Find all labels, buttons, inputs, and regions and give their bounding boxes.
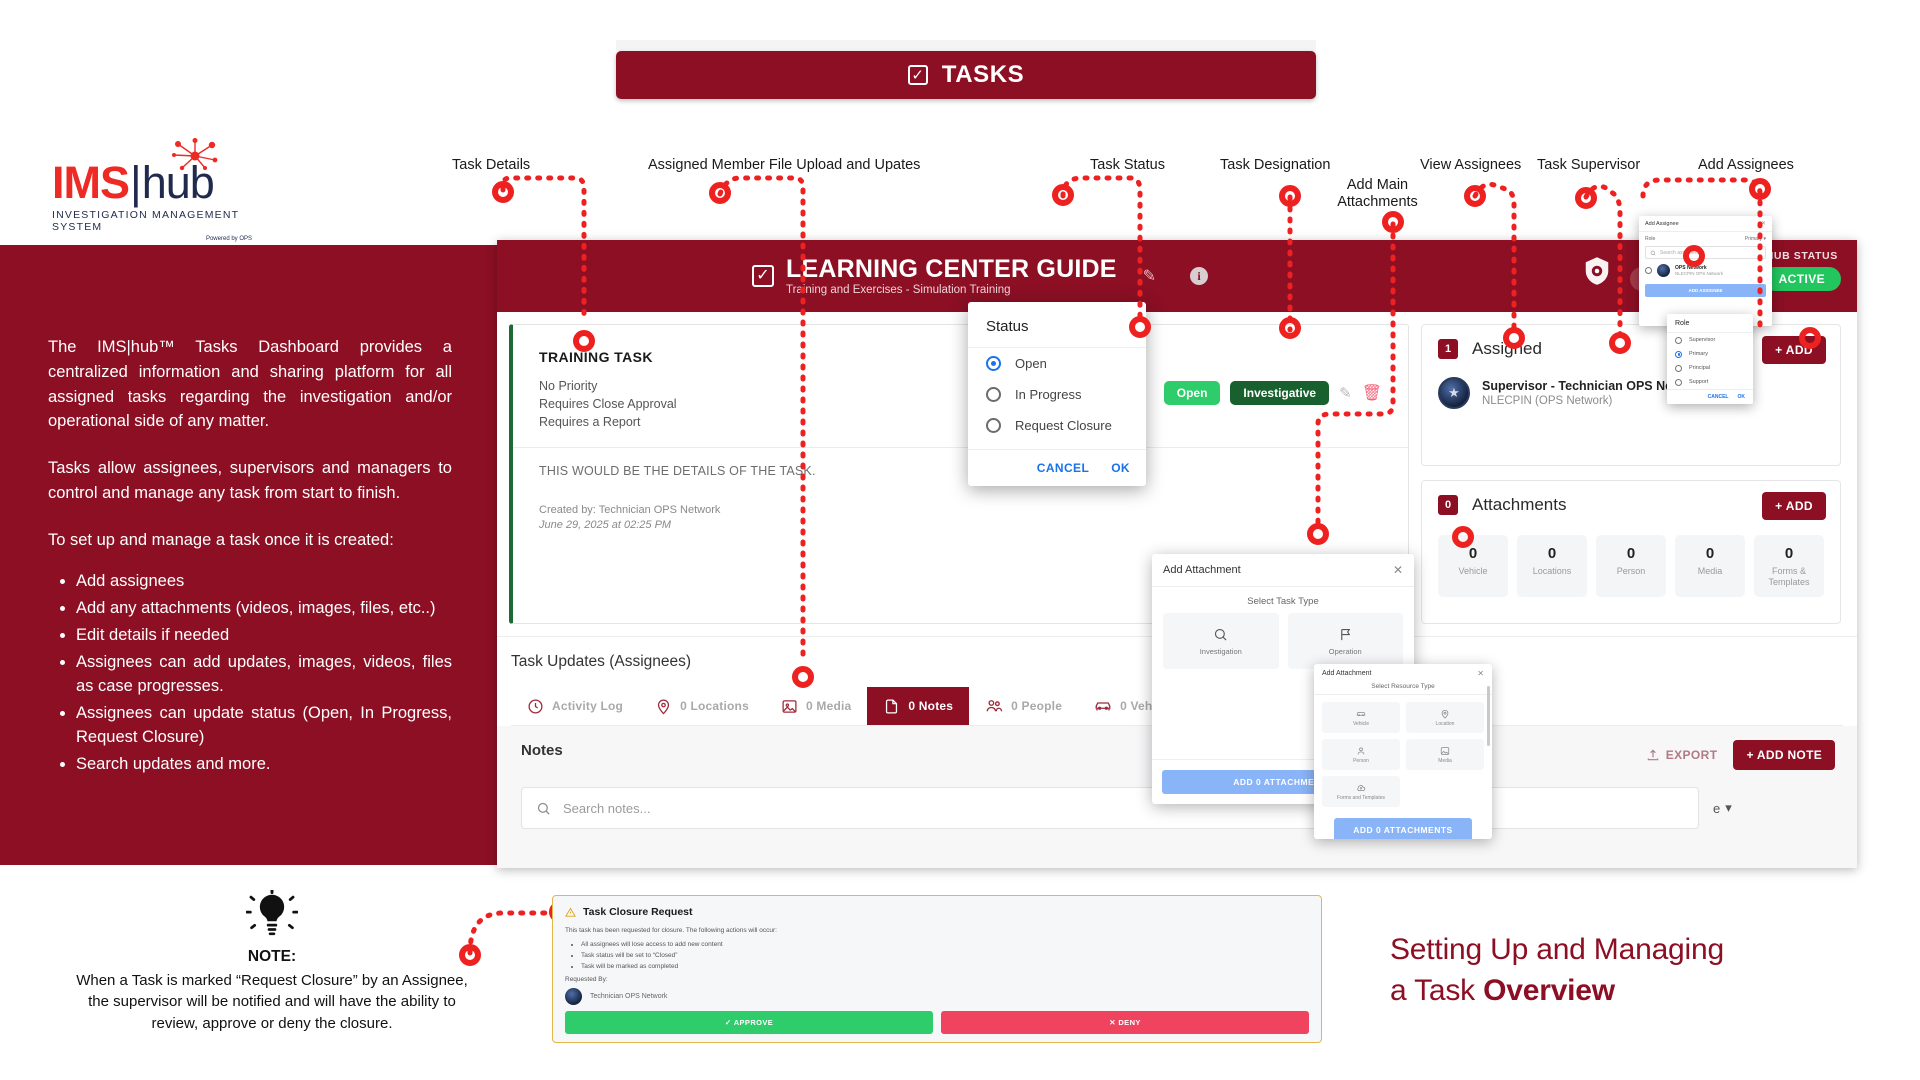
add-attachment-button[interactable]: + ADD xyxy=(1762,492,1826,520)
attachment-tile-person[interactable]: 0 Person xyxy=(1596,535,1666,597)
annotation-view-assignees: View Assignees xyxy=(1420,157,1521,173)
export-label: EXPORT xyxy=(1666,748,1718,762)
tab-label: Activity Log xyxy=(552,699,623,713)
card-label: Media xyxy=(1438,758,1452,764)
cloud-upload-icon xyxy=(1356,783,1366,793)
role-dialog[interactable]: Role Supervisor Primary Principal Suppor… xyxy=(1667,314,1753,404)
cancel-button[interactable]: CANCEL xyxy=(1037,461,1089,475)
option-label: Request Closure xyxy=(1015,418,1112,433)
section-label: Select Task Type xyxy=(1152,587,1414,613)
lightbulb-icon xyxy=(72,890,472,942)
resource-type-person[interactable]: Person xyxy=(1322,739,1400,770)
add-note-button[interactable]: + ADD NOTE xyxy=(1733,740,1835,770)
annotation-add-main-attachments: Add Main Attachments xyxy=(1330,177,1425,212)
search-assignee-input[interactable]: Search assignees... xyxy=(1645,246,1766,259)
tile-count: 0 xyxy=(1677,545,1743,562)
intro-paragraph-2: Tasks allow assignees, supervisors and m… xyxy=(48,456,452,506)
tile-label: Person xyxy=(1598,566,1664,577)
logo-dots-icon xyxy=(172,138,218,174)
divider xyxy=(513,447,1408,448)
dialog-title: Add Assignee xyxy=(1645,221,1679,227)
annotation-add-assignees: Add Assignees xyxy=(1698,157,1794,173)
list-item: Assignees can add updates, images, video… xyxy=(76,651,452,699)
hub-status-label: HUB STATUS xyxy=(1763,250,1841,262)
map-pin-icon xyxy=(655,698,672,715)
list-item: All assignees will lose access to add ne… xyxy=(581,941,1309,948)
car-icon xyxy=(1356,709,1366,719)
radio-icon[interactable] xyxy=(1675,351,1682,358)
sort-select[interactable]: e ▾ xyxy=(1713,800,1833,816)
close-icon[interactable]: ✕ xyxy=(1477,669,1484,678)
attachment-tile-forms[interactable]: 0 Forms & Templates xyxy=(1754,535,1824,597)
annotation-task-status: Task Status xyxy=(1090,157,1165,173)
banner-top-shadow xyxy=(616,40,1316,51)
radio-icon[interactable] xyxy=(1675,337,1682,344)
attachment-tile-media[interactable]: 0 Media xyxy=(1675,535,1745,597)
list-item: Add assignees xyxy=(76,570,452,594)
avatar: ★ xyxy=(1438,377,1470,409)
car-icon xyxy=(1094,697,1112,715)
setup-steps-list: Add assignees Add any attachments (video… xyxy=(76,570,452,776)
cancel-button[interactable]: CANCEL xyxy=(1708,394,1729,400)
section-title-line2-b: Overview xyxy=(1483,974,1615,1007)
assigned-count-badge: 1 xyxy=(1438,339,1458,359)
assigned-panel: 1 Assigned + ADD ★ Supervisor - Technici… xyxy=(1421,324,1841,466)
list-item[interactable]: ★ Supervisor - Technician OPS Network NL… xyxy=(1438,377,1824,409)
option-label: Supervisor xyxy=(1689,337,1715,343)
status-dialog-title: Status xyxy=(968,302,1146,348)
resource-type-media[interactable]: Media xyxy=(1406,739,1484,770)
intro-paragraph-1: The IMS|hub™ Tasks Dashboard provides a … xyxy=(48,335,452,434)
export-button[interactable]: EXPORT xyxy=(1646,748,1718,762)
task-status-pill[interactable]: Open xyxy=(1164,381,1221,405)
info-icon[interactable]: i xyxy=(1190,267,1208,285)
note-title: NOTE: xyxy=(72,948,472,966)
dialog-title: Add Attachment xyxy=(1163,564,1241,576)
logo-tagline: INVESTIGATION MANAGEMENT SYSTEM xyxy=(52,209,252,233)
search-notes-input[interactable]: Search notes... xyxy=(521,787,1699,829)
search-placeholder: Search assignees... xyxy=(1660,250,1704,256)
assigned-title: Assigned xyxy=(1472,339,1542,359)
attachments-panel: 0 Attachments + ADD 0 Vehicle 0 Location… xyxy=(1421,480,1841,624)
tile-count: 0 xyxy=(1440,545,1506,562)
people-icon xyxy=(985,697,1003,715)
tile-label: Vehicle xyxy=(1440,566,1506,577)
logo-ims-text: IMS xyxy=(52,160,129,205)
role-option-supervisor[interactable]: Supervisor xyxy=(1667,333,1753,347)
role-option-primary[interactable]: Primary xyxy=(1667,347,1753,361)
note-block: NOTE: When a Task is marked “Request Clo… xyxy=(72,890,472,1034)
person-org: NLECPIN OPS Network xyxy=(1675,271,1723,276)
annotation-task-designation: Task Designation xyxy=(1220,157,1330,173)
close-icon[interactable]: ✕ xyxy=(1393,563,1403,577)
task-type-operation[interactable]: Operation xyxy=(1288,613,1404,669)
checkbox-check-icon: ✓ xyxy=(752,265,774,287)
list-item: Search updates and more. xyxy=(76,753,452,777)
chevron-down-icon: ▾ xyxy=(1725,800,1732,816)
card-label: Location xyxy=(1436,721,1455,727)
task-designation-pill[interactable]: Investigative xyxy=(1230,381,1329,405)
section-title-line2: a Task Overview xyxy=(1390,971,1860,1012)
requested-by-label: Requested By: xyxy=(565,976,1309,983)
task-type-investigation[interactable]: Investigation xyxy=(1163,613,1279,669)
tile-count: 0 xyxy=(1756,545,1822,562)
radio-icon[interactable] xyxy=(1645,267,1652,274)
tab-label: 0 Locations xyxy=(680,699,749,713)
person-icon xyxy=(1356,746,1366,756)
resource-type-location[interactable]: Location xyxy=(1406,702,1484,733)
task-details-text: THIS WOULD BE THE DETAILS OF THE TASK. xyxy=(539,464,1382,478)
logo-divider: | xyxy=(130,160,141,205)
tile-label: Forms & Templates xyxy=(1756,566,1822,588)
pencil-icon[interactable]: ✎ xyxy=(1339,384,1352,402)
tile-count: 0 xyxy=(1519,545,1585,562)
option-label: Primary xyxy=(1689,351,1708,357)
list-item[interactable]: OPS Network NLECPIN OPS Network xyxy=(1639,259,1772,282)
attachments-title: Attachments xyxy=(1472,495,1567,515)
tile-label: Media xyxy=(1677,566,1743,577)
resource-type-forms-templates[interactable]: Forms and Templates xyxy=(1322,776,1400,807)
card-label: Investigation xyxy=(1200,647,1242,656)
task-title: TRAINING TASK xyxy=(539,349,1382,365)
clock-icon xyxy=(527,698,544,715)
deconfliction-shield-icon[interactable] xyxy=(1582,256,1612,286)
approve-button[interactable]: ✓ APPROVE xyxy=(565,1011,933,1034)
task-report-required: Requires a Report xyxy=(539,414,1382,432)
add-assignee-dialog[interactable]: Add Assignee ✕ Role Primary ▾ Search ass… xyxy=(1639,216,1772,326)
radio-icon[interactable] xyxy=(986,387,1001,402)
requester-name: Technician OPS Network xyxy=(590,993,667,1000)
tab-activity-log[interactable]: Activity Log xyxy=(511,687,639,725)
pencil-icon[interactable]: ✎ xyxy=(1143,266,1156,286)
task-created-by: Created by: Technician OPS Network xyxy=(539,504,720,516)
deny-button[interactable]: ✕ DENY xyxy=(941,1011,1309,1034)
imshub-logo: IMS|hub INVESTIGATION MANAGEMENT SYSTEM … xyxy=(52,160,252,242)
tab-label: 0 People xyxy=(1011,699,1062,713)
task-status-row: Open Investigative ✎ 🗑 xyxy=(1164,381,1382,405)
task-created-at: June 29, 2025 at 02:25 PM xyxy=(539,519,1382,531)
search-placeholder: Search notes... xyxy=(563,801,650,816)
list-item: Task status will be set to “Closed” xyxy=(581,952,1309,959)
ok-button[interactable]: OK xyxy=(1111,461,1130,475)
radio-icon[interactable] xyxy=(1675,379,1682,386)
tile-label: Locations xyxy=(1519,566,1585,577)
role-option-principal[interactable]: Principal xyxy=(1667,361,1753,375)
section-title: Setting Up and Managing a Task Overview xyxy=(1390,930,1860,1011)
status-dialog[interactable]: Status Open In Progress Request Closure … xyxy=(968,302,1146,486)
avatar xyxy=(565,988,582,1005)
flag-icon xyxy=(1338,627,1353,642)
list-item: Edit details if needed xyxy=(76,624,452,648)
image-icon xyxy=(781,698,798,715)
annotation-task-details: Task Details xyxy=(452,157,530,173)
card-label: Forms and Templates xyxy=(1337,795,1385,801)
section-label: Select Resource Type xyxy=(1314,683,1492,695)
tab-label: 0 Notes xyxy=(908,699,953,713)
option-label: Principal xyxy=(1689,365,1710,371)
attachment-tile-vehicle[interactable]: 0 Vehicle xyxy=(1438,535,1508,597)
logo-powered-by: Powered by OPS xyxy=(52,236,252,242)
tab-label: 0 Media xyxy=(806,699,851,713)
option-label: Open xyxy=(1015,356,1047,371)
tab-people[interactable]: 0 People xyxy=(969,687,1078,725)
tasks-banner-label: TASKS xyxy=(942,61,1025,89)
status-option-in-progress[interactable]: In Progress xyxy=(968,379,1146,410)
scrollbar[interactable] xyxy=(1487,686,1490,746)
task-closure-request-card: Task Closure Request This task has been … xyxy=(552,895,1322,1043)
section-title-line1: Setting Up and Managing xyxy=(1390,930,1860,971)
role-value-select[interactable]: Primary ▾ xyxy=(1745,236,1766,242)
left-description-panel: The IMS|hub™ Tasks Dashboard provides a … xyxy=(0,245,500,865)
close-icon[interactable]: ✕ xyxy=(1761,220,1766,227)
tile-count: 0 xyxy=(1598,545,1664,562)
sort-label: e xyxy=(1713,801,1720,816)
add-attachments-submit[interactable]: ADD 0 ATTACHMENTS xyxy=(1334,818,1472,839)
annotation-assigned-member-file-upload: Assigned Member File Upload and Upates xyxy=(648,157,920,173)
status-option-open[interactable]: Open xyxy=(968,348,1146,379)
radio-icon[interactable] xyxy=(986,356,1001,371)
document-icon xyxy=(883,698,900,715)
hub-status: HUB STATUS ACTIVE xyxy=(1763,250,1841,291)
map-pin-icon xyxy=(1440,709,1450,719)
search-icon xyxy=(536,801,551,816)
annotation-task-supervisor: Task Supervisor xyxy=(1537,157,1640,173)
list-item: Task will be marked as completed xyxy=(581,963,1309,970)
section-title-line2-a: a Task xyxy=(1390,974,1483,1007)
list-item: Add any attachments (videos, images, fil… xyxy=(76,597,452,621)
attachments-count-badge: 0 xyxy=(1438,495,1458,515)
role-label: Role xyxy=(1645,236,1655,242)
radio-icon[interactable] xyxy=(986,418,1001,433)
card-label: Operation xyxy=(1329,647,1362,656)
image-icon xyxy=(1440,746,1450,756)
attachment-tile-locations[interactable]: 0 Locations xyxy=(1517,535,1587,597)
status-badge[interactable]: ACTIVE xyxy=(1763,267,1841,291)
page-title: LEARNING CENTER GUIDE xyxy=(786,256,1117,282)
trash-icon[interactable]: 🗑 xyxy=(1362,383,1382,403)
tab-locations[interactable]: 0 Locations xyxy=(639,687,765,725)
ok-button[interactable]: OK xyxy=(1738,394,1746,400)
dialog-title: Add Attachment xyxy=(1322,670,1371,677)
export-icon xyxy=(1646,748,1660,762)
role-option-support[interactable]: Support xyxy=(1667,375,1753,389)
option-label: In Progress xyxy=(1015,387,1081,402)
add-assignee-submit[interactable]: ADD ASSIGNEE xyxy=(1645,284,1766,297)
search-icon xyxy=(1650,250,1656,256)
search-icon xyxy=(1213,627,1228,642)
tab-media[interactable]: 0 Media xyxy=(765,687,867,725)
closure-title: Task Closure Request xyxy=(583,906,693,918)
list-item: Assignees can update status (Open, In Pr… xyxy=(76,702,452,750)
add-attachment-dialog-resource-type[interactable]: Add Attachment ✕ Select Resource Type Ve… xyxy=(1314,664,1492,839)
status-option-request-closure[interactable]: Request Closure xyxy=(968,410,1146,441)
card-label: Person xyxy=(1353,758,1369,764)
tab-notes[interactable]: 0 Notes xyxy=(867,687,969,725)
resource-type-vehicle[interactable]: Vehicle xyxy=(1322,702,1400,733)
intro-paragraph-3: To set up and manage a task once it is c… xyxy=(48,528,452,553)
card-label: Vehicle xyxy=(1353,721,1369,727)
option-label: Support xyxy=(1689,379,1708,385)
checkbox-check-icon: ✓ xyxy=(908,65,928,85)
task-created-info: Created by: Technician OPS Network June … xyxy=(539,504,1382,531)
add-assignee-button[interactable]: + ADD xyxy=(1762,336,1826,364)
avatar xyxy=(1657,264,1670,277)
note-body: When a Task is marked “Request Closure” … xyxy=(72,970,472,1034)
role-dialog-title: Role xyxy=(1667,314,1753,333)
page-subtitle: Training and Exercises - Simulation Trai… xyxy=(786,284,1117,296)
radio-icon[interactable] xyxy=(1675,365,1682,372)
tasks-banner: ✓ TASKS xyxy=(616,51,1316,99)
warning-triangle-icon xyxy=(565,907,576,918)
closure-lead: This task has been requested for closure… xyxy=(565,927,1309,934)
